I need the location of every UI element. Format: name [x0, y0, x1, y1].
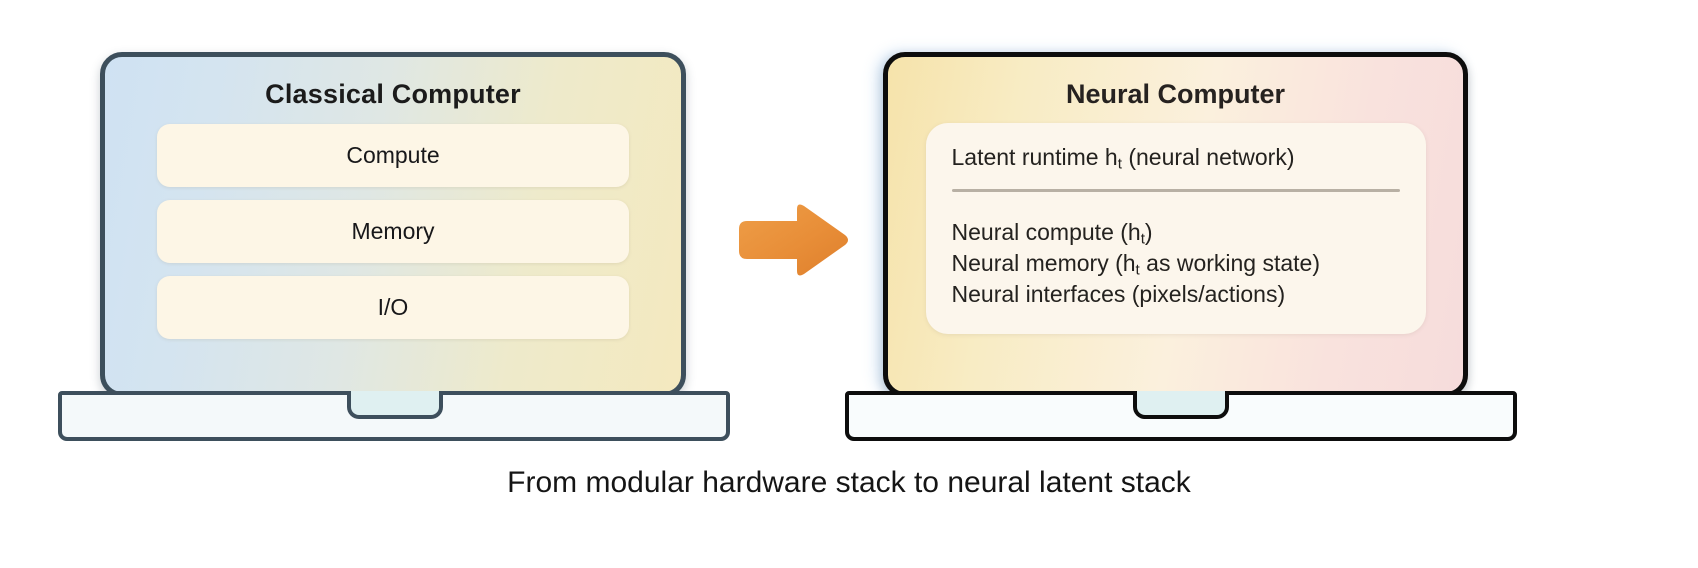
neural-headline-prefix: Latent runtime h [952, 144, 1118, 170]
classical-title: Classical Computer [265, 79, 521, 110]
neural-headline: Latent runtime ht (neural network) [952, 143, 1400, 174]
neural-screen: Neural Computer Latent runtime ht (neura… [883, 52, 1468, 397]
classical-computer-laptop: Classical Computer Compute Memory I/O [0, 0, 760, 460]
classical-row-memory: Memory [157, 200, 629, 263]
neural-capability-prefix: Neural interfaces (pixels/actions) [952, 281, 1286, 307]
neural-computer-laptop: Neural Computer Latent runtime ht (neura… [838, 0, 1698, 460]
classical-laptop-trackpad-notch [347, 391, 443, 419]
diagram-canvas: Classical Computer Compute Memory I/O [0, 0, 1698, 568]
neural-laptop-trackpad-notch [1133, 391, 1229, 419]
neural-capability-list: Neural compute (ht) Neural memory (ht as… [952, 218, 1400, 311]
classical-row-list: Compute Memory I/O [105, 124, 681, 339]
diagram-caption: From modular hardware stack to neural la… [0, 466, 1698, 500]
neural-card-divider [952, 189, 1400, 192]
classical-row-label: Memory [351, 218, 434, 245]
neural-capability-item: Neural compute (ht) [952, 218, 1400, 249]
neural-capability-suffix: as working state) [1140, 250, 1320, 276]
neural-capability-item: Neural interfaces (pixels/actions) [952, 280, 1400, 311]
neural-capability-item: Neural memory (ht as working state) [952, 249, 1400, 280]
neural-latent-card: Latent runtime ht (neural network) Neura… [926, 123, 1426, 334]
right-arrow-icon [731, 202, 851, 278]
neural-headline-suffix: (neural network) [1122, 144, 1295, 170]
classical-row-label: Compute [346, 142, 439, 169]
neural-capability-prefix: Neural memory (h [952, 250, 1136, 276]
neural-capability-suffix: ) [1145, 219, 1153, 245]
classical-row-label: I/O [378, 294, 409, 321]
neural-title: Neural Computer [1066, 79, 1285, 110]
classical-screen: Classical Computer Compute Memory I/O [100, 52, 686, 397]
classical-row-compute: Compute [157, 124, 629, 187]
classical-row-io: I/O [157, 276, 629, 339]
neural-capability-prefix: Neural compute (h [952, 219, 1141, 245]
